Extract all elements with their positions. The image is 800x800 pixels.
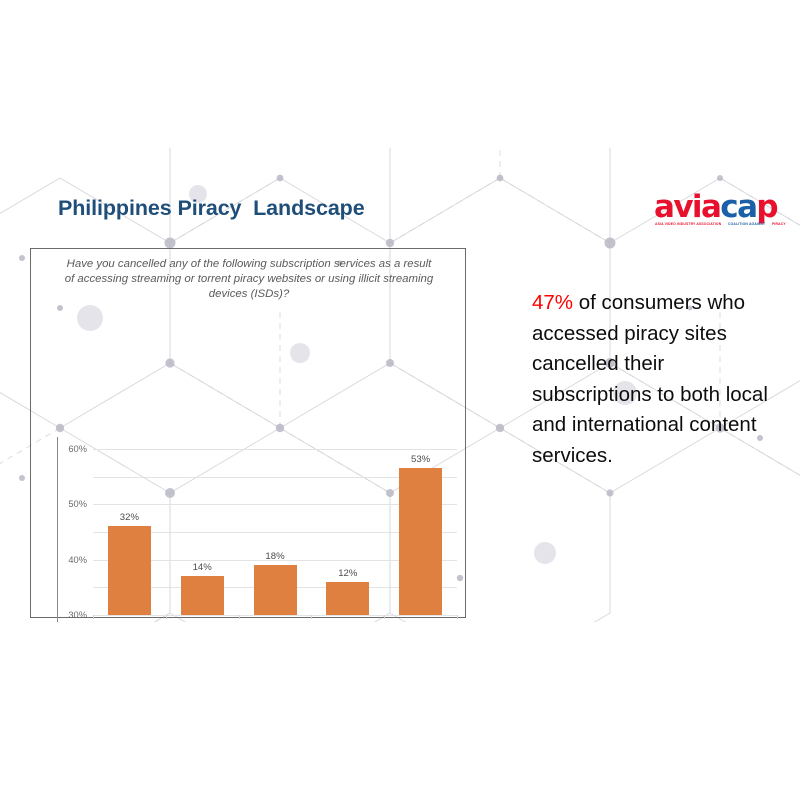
page-title: Philippines Piracy Landscape — [58, 196, 365, 221]
chart-bar[interactable] — [254, 565, 297, 615]
y-axis-line — [57, 437, 58, 622]
y-axis-tick-label: 40% — [68, 555, 87, 565]
gridline: 60% — [93, 449, 457, 450]
chart-bar[interactable] — [326, 582, 369, 615]
x-axis-category-label: I have cancelled my subscription to paid… — [166, 621, 239, 622]
bar-value-label: 14% — [193, 562, 212, 573]
chart-plot-area: 60%50%40%30%20%10%0% 32%14%18%12%53% I h… — [93, 449, 457, 615]
x-axis-tick — [311, 615, 312, 619]
bar-value-label: 32% — [120, 512, 139, 523]
y-axis-tick-label: 30% — [68, 610, 87, 620]
x-axis-category-label: I have cancelled a specific part of my c… — [311, 621, 384, 622]
x-axis-tick — [166, 615, 167, 619]
logo-subtitle-cap-piracy: PIRACY — [772, 222, 786, 226]
logo-text-p: p — [756, 189, 777, 225]
callout-stat: 47% — [532, 291, 573, 314]
logo-text-a: a — [737, 189, 756, 225]
gridline: 0% — [93, 615, 457, 616]
x-axis-tick — [239, 615, 240, 619]
bar-value-label: 53% — [411, 454, 430, 465]
avia-cap-logo: aviacap ASIA VIDEO INDUSTRY ASSOCIATION … — [654, 192, 794, 230]
x-axis-category-label: I have cancelled my entire cable TV Subs… — [239, 621, 312, 622]
y-axis-tick-label: 60% — [68, 444, 87, 454]
chart-bar[interactable] — [399, 468, 442, 615]
bar-value-label: 18% — [265, 551, 284, 562]
x-axis-tick — [384, 615, 385, 619]
x-axis-tick — [93, 615, 94, 619]
x-axis-tick — [457, 615, 458, 619]
chart-title: Have you cancelled any of the following … — [63, 257, 435, 303]
x-axis-category-label: Not applicable - I have not cancelled an… — [384, 621, 457, 622]
logo-text-c: c — [720, 189, 737, 225]
chart-bar[interactable] — [181, 576, 224, 615]
logo-text-avia: avia — [654, 189, 720, 225]
chart-container: Have you cancelled any of the following … — [30, 248, 466, 618]
chart-bar[interactable] — [108, 526, 151, 615]
bar-value-label: 12% — [338, 568, 357, 579]
slide-canvas: Philippines Piracy Landscape aviacap ASI… — [0, 148, 800, 622]
logo-subtitle-cap: COALITION AGAINST — [728, 222, 765, 226]
callout-body: of consumers who accessed piracy sites c… — [532, 291, 768, 467]
logo-subtitle-avia: ASIA VIDEO INDUSTRY ASSOCIATION — [655, 222, 721, 226]
x-axis-category-label: I have cancelled my subscription to paid… — [93, 621, 166, 622]
callout-text: 47% of consumers who accessed piracy sit… — [532, 288, 782, 471]
y-axis-tick-label: 50% — [68, 499, 87, 509]
